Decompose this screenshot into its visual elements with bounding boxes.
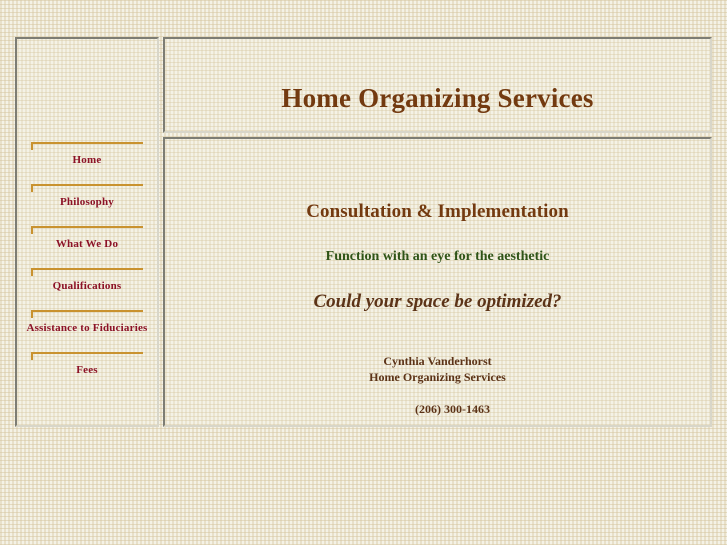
nav-list: Home Philosophy What We Do Qualification… <box>17 135 157 387</box>
content-tagline: Function with an eye for the aesthetic <box>165 249 710 265</box>
content-question: Could your space be optimized? <box>165 291 710 313</box>
nav-link-philosophy[interactable]: Philosophy <box>60 196 114 208</box>
contact-block: Cynthia Vanderhorst Home Organizing Serv… <box>165 353 710 427</box>
content-frame: Consultation & Implementation Function w… <box>163 137 712 427</box>
nav-divider-rule <box>31 268 143 270</box>
nav-link-what-we-do[interactable]: What We Do <box>56 238 118 250</box>
nav-divider-rule <box>31 184 143 186</box>
contact-phones: (206) 300-1463 (360) 929-9397 <box>165 385 710 427</box>
header-frame: Home Organizing Services <box>163 37 712 133</box>
navigation-frame: Home Philosophy What We Do Qualification… <box>15 37 159 427</box>
nav-link-fees[interactable]: Fees <box>76 364 98 376</box>
nav-link-home[interactable]: Home <box>73 154 102 166</box>
page-body: { "site": { "title": "Home Organizing Se… <box>0 0 727 545</box>
nav-divider-rule <box>31 142 143 144</box>
content-headline: Consultation & Implementation <box>165 201 710 223</box>
nav-divider-rule <box>31 310 143 312</box>
nav-divider-rule <box>31 226 143 228</box>
sidebar-item-assistance-to-fiduciaries[interactable]: Assistance to Fiduciaries <box>17 303 157 345</box>
sidebar-item-philosophy[interactable]: Philosophy <box>17 177 157 219</box>
sidebar-item-home[interactable]: Home <box>17 135 157 177</box>
nav-link-assistance-to-fiduciaries[interactable]: Assistance to Fiduciaries <box>26 322 147 334</box>
nav-divider-rule <box>31 352 143 354</box>
contact-phone-primary: (206) 300-1463 <box>415 402 490 416</box>
frameset: Home Philosophy What We Do Qualification… <box>15 37 712 427</box>
sidebar-item-what-we-do[interactable]: What We Do <box>17 219 157 261</box>
contact-name: Cynthia Vanderhorst <box>165 353 710 369</box>
sidebar-item-fees[interactable]: Fees <box>17 345 157 387</box>
contact-company: Home Organizing Services <box>165 369 710 385</box>
sidebar-item-qualifications[interactable]: Qualifications <box>17 261 157 303</box>
page-title: Home Organizing Services <box>165 83 710 114</box>
nav-link-qualifications[interactable]: Qualifications <box>53 280 122 292</box>
